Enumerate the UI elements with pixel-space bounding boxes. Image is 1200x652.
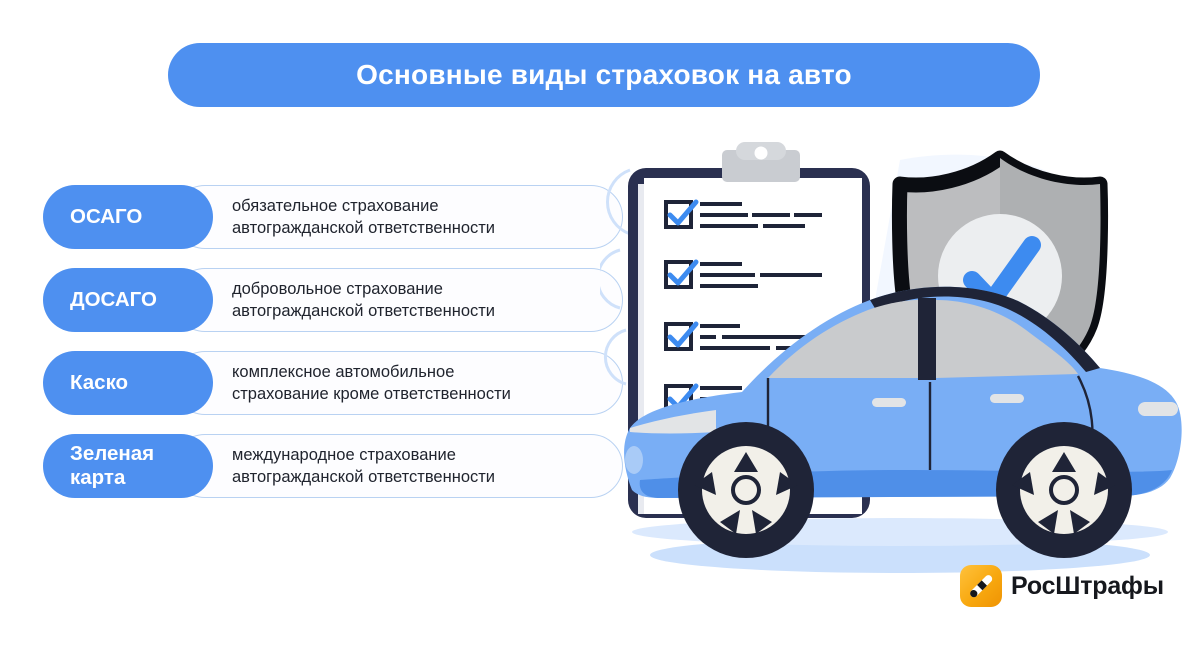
description-card: международное страхование автогражданско… (173, 434, 623, 498)
infographic-canvas: Основные виды страховок на авто обязател… (0, 0, 1200, 652)
description-text: добровольное страхование автогражданской… (232, 278, 495, 322)
list-item: обязательное страхование автогражданской… (43, 185, 623, 249)
type-badge: ДОСАГО (43, 268, 213, 332)
insurance-types-list: обязательное страхование автогражданской… (43, 185, 623, 517)
page-title: Основные виды страховок на авто (356, 59, 852, 91)
description-text: комплексное автомобильное страхование кр… (232, 361, 511, 405)
list-item: комплексное автомобильное страхование кр… (43, 351, 623, 415)
police-baton-icon (960, 565, 1002, 607)
description-card: добровольное страхование автогражданской… (173, 268, 623, 332)
insurance-illustration (600, 140, 1200, 610)
description-text: международное страхование автогражданско… (232, 444, 495, 488)
type-badge-label: ДОСАГО (70, 288, 157, 312)
car-pillar (918, 298, 936, 380)
list-item: международное страхование автогражданско… (43, 434, 623, 498)
description-text: обязательное страхование автогражданской… (232, 195, 495, 239)
type-badge: Каско (43, 351, 213, 415)
type-badge: Зеленая карта (43, 434, 213, 498)
title-banner: Основные виды страховок на авто (168, 43, 1040, 107)
brand-name: РосШтрафы (1011, 572, 1164, 601)
car-wheel-rear (996, 422, 1132, 558)
brand-logo: РосШтрафы (960, 565, 1164, 607)
description-card: обязательное страхование автогражданской… (173, 185, 623, 249)
car-wheel-front (678, 422, 814, 558)
list-item: добровольное страхование автогражданской… (43, 268, 623, 332)
description-card: комплексное автомобильное страхование кр… (173, 351, 623, 415)
type-badge-label: ОСАГО (70, 205, 142, 229)
type-badge: ОСАГО (43, 185, 213, 249)
type-badge-label: Зеленая карта (70, 442, 154, 490)
type-badge-label: Каско (70, 371, 128, 395)
